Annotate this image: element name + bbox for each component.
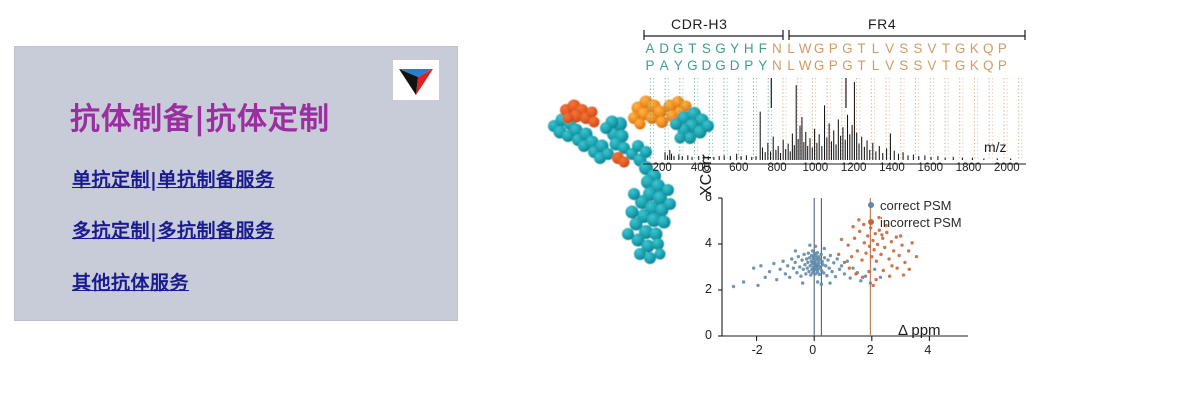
sequence-residue: L xyxy=(784,41,798,56)
sequence-residue: K xyxy=(967,41,981,56)
scatter-point xyxy=(895,235,898,238)
scatter-point xyxy=(799,275,802,278)
sequence-residue: S xyxy=(699,41,713,56)
company-logo xyxy=(393,60,439,100)
sequence-residue: L xyxy=(869,58,883,73)
scatter-point xyxy=(834,275,837,278)
scatter-point xyxy=(908,268,911,271)
sequence-residue: T xyxy=(939,41,953,56)
sequence-residue: L xyxy=(784,58,798,73)
sequence-row-bottom: PAYGDGDPYNLWGPGTLVSSVTGKQP xyxy=(643,58,1026,75)
sequence-residue: N xyxy=(770,41,784,56)
scatter-point xyxy=(824,264,827,267)
sequence-residue: S xyxy=(911,41,925,56)
scatter-point xyxy=(756,284,759,287)
sequence-residue: D xyxy=(657,41,671,56)
mz-tick-label: 1800 xyxy=(956,162,982,174)
scatter-point xyxy=(798,265,801,268)
scatter-point xyxy=(876,243,879,246)
scatter-point xyxy=(849,276,852,279)
sequence-residue: W xyxy=(798,41,812,56)
scatter-point xyxy=(872,248,875,251)
scatter-point xyxy=(795,271,798,274)
sequence-residue: S xyxy=(911,58,925,73)
scatter-point xyxy=(826,258,829,261)
promo-link-monoclonal[interactable]: 单抗定制|单抗制备服务 xyxy=(72,165,274,192)
scatter-point xyxy=(858,230,861,233)
scatter-point xyxy=(862,223,865,226)
scatter-point xyxy=(742,280,745,283)
scatter-point xyxy=(850,255,853,258)
scatter-point xyxy=(829,254,832,257)
scatter-point xyxy=(899,234,902,237)
scatter-point xyxy=(772,262,775,265)
promo-link-other-services[interactable]: 其他抗体服务 xyxy=(72,268,189,295)
scatter-x-tick-label: 2 xyxy=(867,343,874,357)
scatter-point xyxy=(851,225,854,228)
sequence-residue: T xyxy=(939,58,953,73)
scatter-point xyxy=(732,285,735,288)
sequence-residue: G xyxy=(713,58,727,73)
scatter-point xyxy=(768,270,771,273)
scatter-point xyxy=(915,255,918,258)
scatter-x-tick-label: 4 xyxy=(924,343,931,357)
mz-axis-title: m/z xyxy=(984,139,1007,155)
scatter-point xyxy=(775,278,778,281)
sequence-residue: N xyxy=(770,58,784,73)
page-title: 抗体制备|抗体定制 xyxy=(70,94,330,138)
sequence-residue: G xyxy=(812,58,826,73)
scatter-point xyxy=(786,264,789,267)
scatter-point xyxy=(879,276,882,279)
scatter-point xyxy=(806,261,809,264)
mz-tick-label: 2000 xyxy=(994,162,1020,174)
scatter-point xyxy=(793,261,796,264)
sequence-residue: A xyxy=(643,41,657,56)
scatter-point xyxy=(802,253,805,256)
scatter-y-tick-label: 6 xyxy=(705,190,712,204)
scatter-point xyxy=(863,241,866,244)
sequence-residue: K xyxy=(967,58,981,73)
mass-spectrum-plot xyxy=(643,78,1026,160)
domain-label-cdr-h3: CDR-H3 xyxy=(671,16,728,32)
legend-label-correct: correct PSM xyxy=(880,198,952,213)
legend-dot-incorrect xyxy=(868,219,874,225)
scatter-point xyxy=(843,261,846,264)
scatter-point xyxy=(885,231,888,234)
scatter-point xyxy=(866,234,869,237)
scatter-x-tick-label: -2 xyxy=(752,343,763,357)
scatter-point xyxy=(818,273,821,276)
mz-tick-label: 600 xyxy=(729,162,748,174)
scatter-y-tick-label: 4 xyxy=(705,236,712,250)
scatter-point xyxy=(874,232,877,235)
scatter-point xyxy=(860,258,863,261)
sequence-residue: S xyxy=(897,58,911,73)
scatter-point xyxy=(794,249,797,252)
sequence-residue: D xyxy=(699,58,713,73)
domain-ruler: CDR-H3 FR4 xyxy=(643,16,1026,42)
scatter-point xyxy=(823,247,826,250)
scatter-point xyxy=(907,249,910,252)
sequence-residue: Q xyxy=(981,41,995,56)
scatter-point xyxy=(867,270,870,273)
scatter-point xyxy=(854,272,857,275)
mz-tick-label: 800 xyxy=(767,162,786,174)
scatter-point xyxy=(830,270,833,273)
sequence-residue: G xyxy=(685,58,699,73)
scatter-point xyxy=(825,274,828,277)
scatter-point xyxy=(804,272,807,275)
scatter-point xyxy=(840,264,843,267)
scatter-point xyxy=(806,266,809,269)
scatter-point xyxy=(873,268,876,271)
sequence-residue: G xyxy=(713,41,727,56)
scatter-point xyxy=(890,264,893,267)
sequence-residue: T xyxy=(685,41,699,56)
scatter-point xyxy=(759,264,762,267)
sequence-residue: P xyxy=(826,41,840,56)
sequence-residue: L xyxy=(869,41,883,56)
scatter-point xyxy=(846,243,849,246)
scatter-point xyxy=(868,245,871,248)
sequence-residue: P xyxy=(995,58,1009,73)
mz-tick-label: 1400 xyxy=(879,162,905,174)
scatter-point xyxy=(828,281,831,284)
sequence-residue: P xyxy=(826,58,840,73)
scatter-point xyxy=(808,243,811,246)
scatter-point xyxy=(895,266,898,269)
sequence-residue: T xyxy=(854,58,868,73)
legend-dot-correct xyxy=(868,202,874,208)
scatter-point xyxy=(881,237,884,240)
sequence-residue: G xyxy=(812,41,826,56)
scatter-point xyxy=(872,284,875,287)
mz-tick-label: 200 xyxy=(653,162,672,174)
legend-item-correct-psm: correct PSM xyxy=(868,198,952,213)
sequence-residue: P xyxy=(995,41,1009,56)
scatter-point xyxy=(832,261,835,264)
scatter-point xyxy=(823,256,826,259)
scatter-point xyxy=(870,255,873,258)
sequence-residue: D xyxy=(728,58,742,73)
scatter-point xyxy=(814,245,817,248)
sequence-residue: Y xyxy=(671,58,685,73)
scatter-point xyxy=(819,253,822,256)
scatter-point xyxy=(869,281,872,284)
sequence-residue: V xyxy=(925,41,939,56)
scatter-point xyxy=(816,251,819,254)
mz-tick-label: 1200 xyxy=(841,162,867,174)
promo-link-polyclonal[interactable]: 多抗定制|多抗制备服务 xyxy=(72,216,274,243)
scatter-point xyxy=(800,258,803,261)
sequence-residue: Y xyxy=(756,58,770,73)
scatter-point xyxy=(861,276,864,279)
domain-label-fr4: FR4 xyxy=(868,16,896,32)
sequence-residue: Y xyxy=(728,41,742,56)
scatter-point xyxy=(827,266,830,269)
sequence-residue: A xyxy=(657,58,671,73)
scatter-point xyxy=(822,271,825,274)
scatter-point xyxy=(853,237,856,240)
scatter-y-tick-label: 0 xyxy=(705,328,712,342)
scatter-point xyxy=(902,273,905,276)
scatter-point xyxy=(871,239,874,242)
sequence-residue: V xyxy=(883,41,897,56)
scatter-x-axis-label: Δ ppm xyxy=(898,322,941,339)
sequence-residue: W xyxy=(798,58,812,73)
scatter-point xyxy=(778,268,781,271)
scatter-point xyxy=(817,261,820,264)
scatter-point xyxy=(788,276,791,279)
sequence-residue: V xyxy=(925,58,939,73)
sequence-residue: F xyxy=(756,41,770,56)
scatter-point xyxy=(864,252,867,255)
scatter-point xyxy=(883,246,886,249)
scatter-point xyxy=(836,257,839,260)
scatter-point xyxy=(882,269,885,272)
scatter-point xyxy=(821,260,824,263)
scatter-point xyxy=(900,243,903,246)
scatter-point xyxy=(792,266,795,269)
sequence-residue: V xyxy=(883,58,897,73)
mz-tick-label: 1600 xyxy=(917,162,943,174)
scatter-point xyxy=(859,279,862,282)
mz-tick-label: 1000 xyxy=(803,162,829,174)
scatter-point xyxy=(816,280,819,283)
scatter-point xyxy=(880,233,883,236)
scatter-point xyxy=(879,253,882,256)
scatter-x-tick-label: 0 xyxy=(809,343,816,357)
scatter-point xyxy=(803,263,806,266)
sequence-residue: H xyxy=(742,41,756,56)
legend-item-incorrect-psm: incorrect PSM xyxy=(868,215,962,230)
scatter-point xyxy=(790,257,793,260)
sequence-residue: Q xyxy=(981,58,995,73)
scatter-point xyxy=(801,281,804,284)
scatter-point xyxy=(807,252,810,255)
scatter-point xyxy=(892,249,895,252)
scatter-point xyxy=(851,266,854,269)
scatter-point xyxy=(784,272,787,275)
promo-panel: 抗体制备|抗体定制 单抗定制|单抗制备服务 多抗定制|多抗制备服务 其他抗体服务 xyxy=(14,46,458,321)
scatter-point xyxy=(843,272,846,275)
scatter-point xyxy=(840,238,843,241)
sequence-alignment: ADGTSGYHFNLWGPGTLVSSVTGKQP PAYGDGDPYNLWG… xyxy=(643,41,1026,77)
scatter-point xyxy=(820,283,823,286)
legend-label-incorrect: incorrect PSM xyxy=(880,215,962,230)
scientific-figure: CDR-H3 FR4 ADGTSGYHFNLWGPGTLVSSVTGKQP PA… xyxy=(520,0,1200,400)
scatter-point xyxy=(752,266,755,269)
sequence-residue: G xyxy=(840,41,854,56)
scatter-point xyxy=(875,260,878,263)
scatter-point xyxy=(764,276,767,279)
sequence-residue: G xyxy=(840,58,854,73)
scatter-point xyxy=(807,270,810,273)
sequence-residue: S xyxy=(897,41,911,56)
sequence-residue: T xyxy=(854,41,868,56)
scatter-point xyxy=(837,253,840,256)
scatter-point xyxy=(910,241,913,244)
scatter-point xyxy=(856,249,859,252)
scatter-point xyxy=(874,278,877,281)
sequence-residue: G xyxy=(671,41,685,56)
sequence-residue: P xyxy=(643,58,657,73)
scatter-point xyxy=(903,261,906,264)
scatter-point xyxy=(781,260,784,263)
sequence-residue: G xyxy=(953,58,967,73)
sequence-residue: G xyxy=(953,41,967,56)
chevron-arrow-logo-icon xyxy=(397,64,435,96)
sequence-row-top: ADGTSGYHFNLWGPGTLVSSVTGKQP xyxy=(643,41,1026,58)
scatter-point xyxy=(897,254,900,257)
scatter-point xyxy=(802,268,805,271)
scatter-point xyxy=(838,268,841,271)
scatter-point xyxy=(857,218,860,221)
sequence-residue: P xyxy=(742,58,756,73)
scatter-point xyxy=(797,255,800,258)
scatter-point xyxy=(887,257,890,260)
scatter-y-tick-label: 2 xyxy=(705,282,712,296)
scatter-point xyxy=(848,266,851,269)
scatter-point xyxy=(890,240,893,243)
scatter-point xyxy=(888,275,891,278)
